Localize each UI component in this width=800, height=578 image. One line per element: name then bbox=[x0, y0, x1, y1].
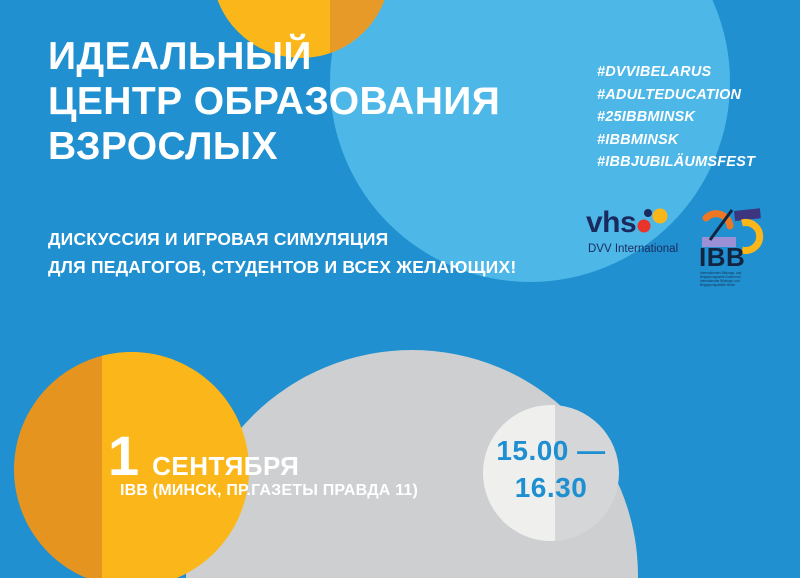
event-poster: ИДЕАЛЬНЫЙ ЦЕНТР ОБРАЗОВАНИЯ ВЗРОСЛЫХ ДИС… bbox=[0, 0, 800, 578]
svg-text:IBB: IBB bbox=[699, 242, 745, 272]
poster-subheadline: ДИСКУССИЯ И ИГРОВАЯ СИМУЛЯЦИЯ ДЛЯ ПЕДАГО… bbox=[48, 225, 568, 281]
hashtag-item: #ADULTEDUCATION bbox=[597, 84, 755, 107]
hashtag-item: #25IBBMINSK bbox=[597, 106, 755, 129]
logo-group: vhs DVV International IBB Internationale… bbox=[586, 198, 766, 290]
svg-text:vhs: vhs bbox=[586, 206, 636, 239]
event-day: 1 bbox=[108, 428, 138, 484]
vhs-dvv-international-logo: vhs DVV International bbox=[586, 204, 688, 258]
hashtag-item: #IBBMINSK bbox=[597, 129, 755, 152]
hashtag-item: #DVVIBELARUS bbox=[597, 61, 755, 84]
svg-text:Begegnungsstätte Minsk: Begegnungsstätte Minsk bbox=[700, 283, 735, 287]
hashtag-item: #IBBJUBILÄUMSFEST bbox=[597, 151, 755, 174]
event-month: СЕНТЯБРЯ bbox=[152, 453, 299, 479]
poster-headline: ИДЕАЛЬНЫЙ ЦЕНТР ОБРАЗОВАНИЯ ВЗРОСЛЫХ bbox=[48, 34, 578, 169]
event-venue: IBB (МИНСК, ПР.ГАЗЕТЫ ПРАВДА 11) bbox=[120, 482, 418, 500]
hashtag-list: #DVVIBELARUS #ADULTEDUCATION #25IBBMINSK… bbox=[597, 61, 755, 174]
svg-text:DVV International: DVV International bbox=[588, 243, 678, 255]
ibb-logo: IBB Internationales Bildungs- und Begegn… bbox=[696, 198, 766, 288]
event-time: 15.00 — 16.30 bbox=[483, 432, 619, 506]
event-date: 1 СЕНТЯБРЯ bbox=[108, 428, 299, 484]
